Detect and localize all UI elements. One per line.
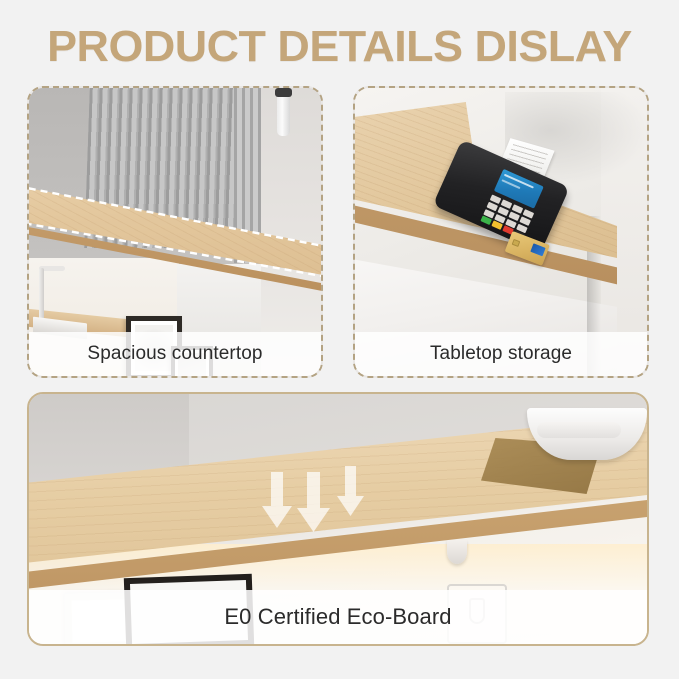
panel-e0-certified-eco-board[interactable]: E0 Certified Eco-Board bbox=[27, 392, 649, 646]
page-title: PRODUCT DETAILS DISLAY bbox=[0, 22, 679, 72]
panel-spacious-countertop[interactable]: Spacious countertop bbox=[27, 86, 323, 378]
desk-lamp-stem bbox=[39, 268, 44, 320]
under-desk-hook bbox=[447, 540, 467, 564]
caption-text: Tabletop storage bbox=[430, 343, 572, 365]
panel-tabletop-storage[interactable]: Tabletop storage bbox=[353, 86, 649, 378]
arrow-down-icon bbox=[257, 464, 377, 534]
caption-spacious-countertop: Spacious countertop bbox=[29, 332, 321, 376]
sanitizer-dispenser-cap bbox=[275, 88, 292, 97]
bank-card-chip-icon bbox=[512, 239, 521, 247]
caption-text: Spacious countertop bbox=[87, 343, 262, 365]
caption-tabletop-storage: Tabletop storage bbox=[355, 332, 647, 376]
down-arrows-group bbox=[257, 464, 377, 534]
monitor-stand-base bbox=[537, 422, 621, 438]
sanitizer-dispenser bbox=[277, 92, 290, 136]
caption-e0-certified-eco-board: E0 Certified Eco-Board bbox=[29, 590, 647, 644]
bank-card-logo-icon bbox=[530, 243, 545, 256]
caption-text: E0 Certified Eco-Board bbox=[224, 604, 451, 630]
